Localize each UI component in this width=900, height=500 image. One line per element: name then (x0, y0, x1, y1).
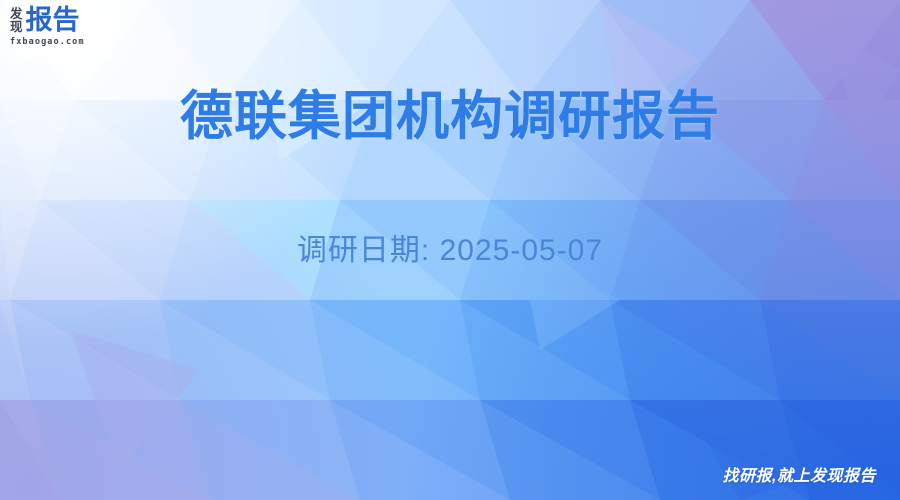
brand-logo[interactable]: 发 现 报告 fxbaogao.com (10, 7, 85, 47)
logo-stacked-chars: 发 现 (10, 7, 23, 34)
logo-wordmark-row: 发 现 报告 (10, 7, 85, 34)
title-block: 德联集团机构调研报告 (0, 86, 900, 149)
logo-domain: fxbaogao.com (10, 37, 85, 47)
footer-slogan: 找研报,就上发现报告 (723, 462, 876, 486)
report-cover: 发 现 报告 fxbaogao.com 德联集团机构调研报告 调研日期: 202… (0, 0, 900, 500)
survey-date: 调研日期: 2025-05-07 (0, 233, 900, 269)
logo-wordmark: 报告 (26, 7, 80, 34)
page-title: 德联集团机构调研报告 (0, 86, 900, 149)
logo-content: 发 现 报告 fxbaogao.com (10, 7, 85, 47)
logo-char-xian: 现 (10, 21, 23, 34)
